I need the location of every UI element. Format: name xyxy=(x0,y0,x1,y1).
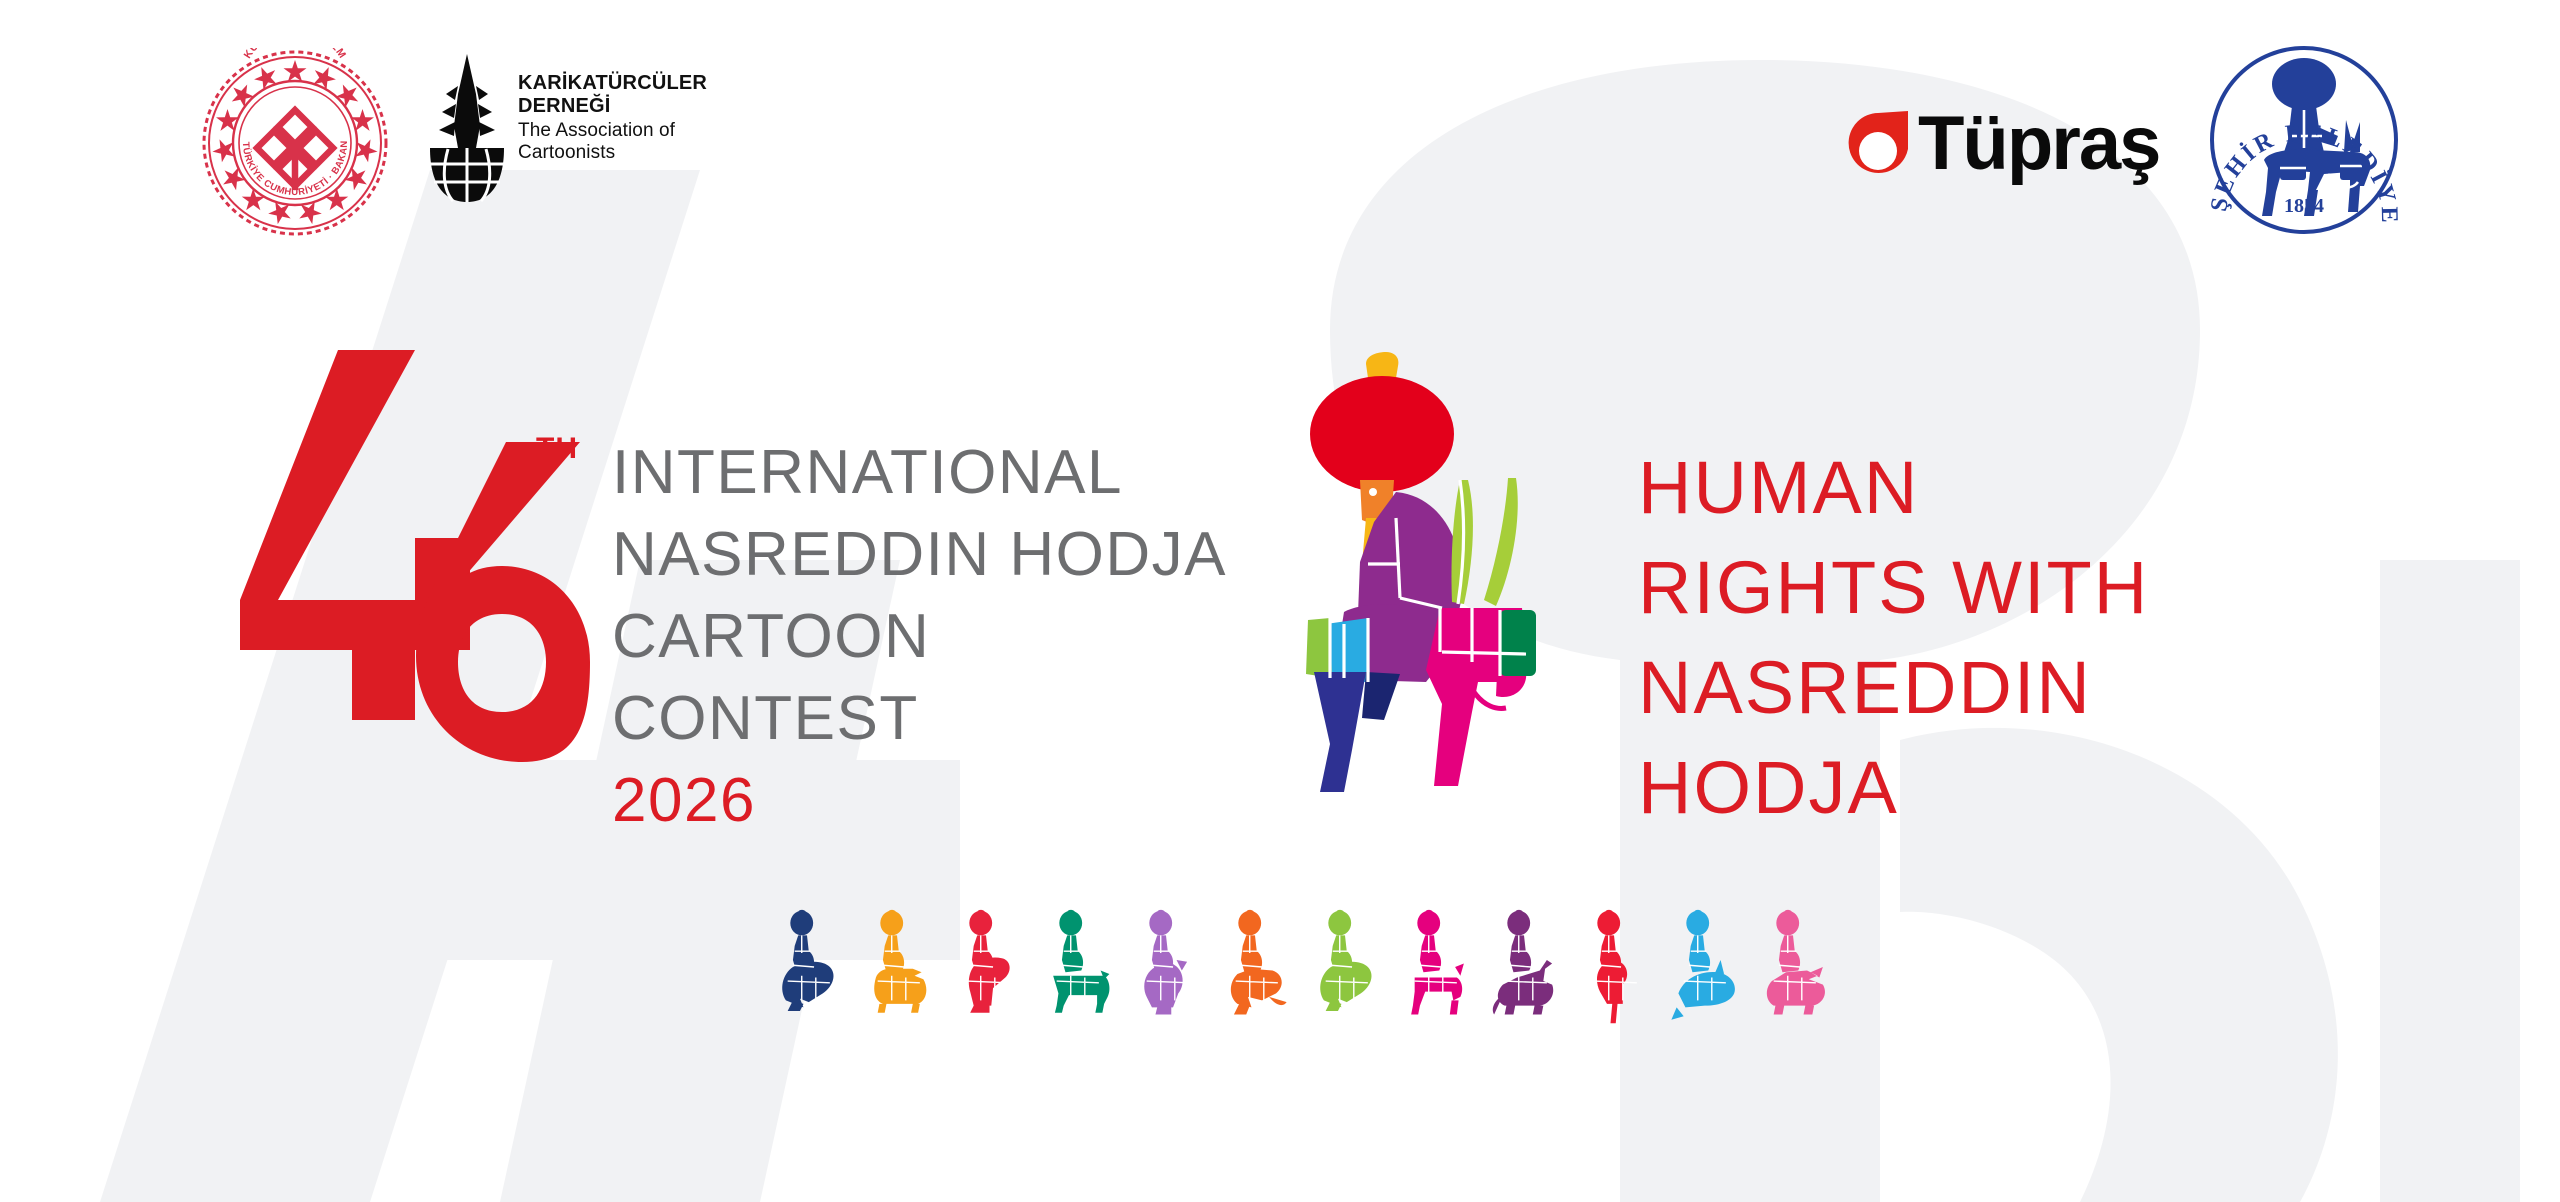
donkey-legs xyxy=(1314,672,1366,792)
cartoonists-line4: Cartoonists xyxy=(518,142,707,164)
title-line-1: INTERNATIONAL xyxy=(612,432,1227,514)
aksehir-belediyesi-logo: AKŞEHİR BELEDİYESİ 1854 xyxy=(2204,40,2404,240)
theme-line-4: HODJA xyxy=(1638,738,2149,838)
ear-right xyxy=(1484,478,1518,606)
rider-rhino xyxy=(860,909,934,1025)
ministry-of-culture-seal-icon: KÜLTÜR VE TURİZM T.C. TÜRKİYE CUMHURİYET… xyxy=(200,48,390,238)
animal-body xyxy=(1320,962,1371,1011)
cartoonists-line1: KARİKATÜRCÜLER xyxy=(518,72,707,95)
title-line-4: CONTEST xyxy=(612,678,1227,760)
rider-duck xyxy=(949,909,1023,1025)
sponsor-logo-strip: KÜLTÜR VE TURİZM T.C. TÜRKİYE CUMHURİYET… xyxy=(0,0,2560,240)
rider-green-bird xyxy=(1308,909,1382,1025)
contest-theme-block: HUMAN RIGHTS WITH NASREDDIN HODJA xyxy=(1638,438,2149,838)
animal-body xyxy=(1412,963,1465,1014)
edition-number-46 xyxy=(240,350,590,770)
animal-body xyxy=(1053,971,1109,1013)
rider-bird xyxy=(770,909,844,1025)
cartoonists-line2: DERNEĞİ xyxy=(518,95,707,118)
pen-nib-globe-icon xyxy=(428,52,506,202)
animal-body xyxy=(874,969,926,1013)
rider-sauropod xyxy=(1487,909,1561,1025)
cap-shape xyxy=(1366,352,1398,378)
animal-body xyxy=(1144,960,1187,1014)
contest-title-block: INTERNATIONAL NASREDDIN HODJA CARTOON CO… xyxy=(612,432,1227,842)
contest-year: 2026 xyxy=(612,760,1227,842)
nasreddin-hodja-illustration xyxy=(1300,352,1600,822)
rider-goat xyxy=(1397,909,1471,1025)
rider-triceratops xyxy=(1756,909,1830,1025)
tupras-droplet-icon xyxy=(1838,105,1916,183)
title-line-2: NASREDDIN HODJA xyxy=(612,514,1227,596)
rider-dolphin xyxy=(1666,909,1740,1025)
animal-body xyxy=(1767,967,1825,1014)
rider-cow xyxy=(1039,909,1113,1025)
rider-flamingo xyxy=(1577,909,1651,1025)
title-line-3: CARTOON xyxy=(612,596,1227,678)
cartoonists-line3: The Association of xyxy=(518,120,707,142)
tupras-logo: Tüpraş xyxy=(1838,98,2138,190)
tupras-wordmark: Tüpraş xyxy=(1918,106,2159,182)
theme-line-3: NASREDDIN xyxy=(1638,638,2149,738)
rider-dinosaur xyxy=(1218,909,1292,1025)
rider-rooster xyxy=(1129,909,1203,1025)
association-of-cartoonists-logo: KARİKATÜRCÜLER DERNEĞİ The Association o… xyxy=(428,52,678,212)
hodja-riding-animals-row xyxy=(770,905,1830,1025)
animal-body xyxy=(782,962,833,1011)
poster-canvas: KÜLTÜR VE TURİZM T.C. TÜRKİYE CUMHURİYET… xyxy=(0,0,2560,1202)
animal-body xyxy=(1231,969,1287,1015)
theme-line-2: RIGHTS WITH xyxy=(1638,538,2149,638)
ordinal-suffix: TH xyxy=(536,432,578,466)
turban-shape xyxy=(1310,376,1454,492)
saddle-bag xyxy=(1500,610,1536,676)
aksehir-year: 1854 xyxy=(2284,195,2324,217)
theme-line-1: HUMAN xyxy=(1638,438,2149,538)
